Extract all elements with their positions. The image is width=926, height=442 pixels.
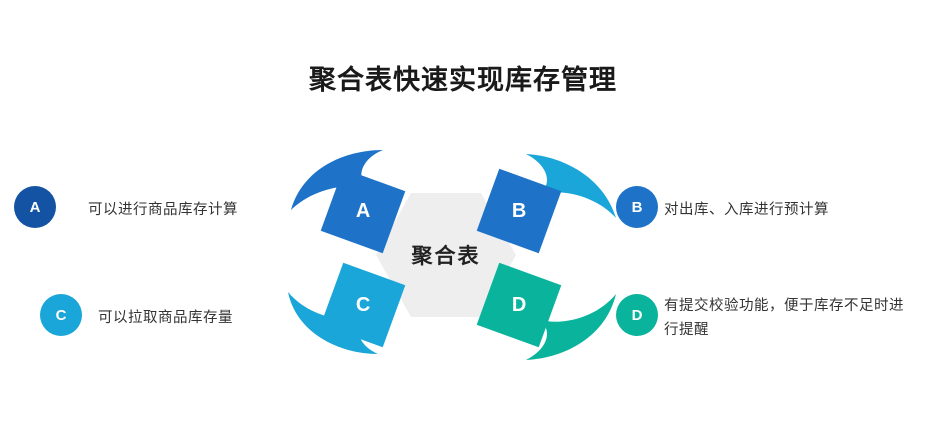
bullet-a-letter: A [30,199,41,216]
bullet-c-letter: C [56,307,67,324]
page-title: 聚合表快速实现库存管理 [0,58,926,97]
bullet-b[interactable]: B [616,186,658,228]
tile-d-letter: D [512,293,526,316]
center-label: 聚合表 [412,240,481,270]
caption-d: 有提交校验功能，便于库存不足时进行提醒 [664,294,916,342]
bullet-d-letter: D [632,307,643,324]
tile-a-letter: A [356,199,370,222]
caption-c: 可以拉取商品库存量 [98,306,328,330]
bullet-d[interactable]: D [616,294,658,336]
caption-a: 可以进行商品库存计算 [88,198,318,222]
bullet-c[interactable]: C [40,294,82,336]
bullet-b-letter: B [632,199,643,216]
diagram-canvas: 聚合表快速实现库存管理 聚合表 A B C D A 可以进行商品库存计算 B 对… [0,0,926,442]
tile-c-letter: C [356,293,370,316]
bullet-a[interactable]: A [14,186,56,228]
tile-b-letter: B [512,199,526,222]
caption-b: 对出库、入库进行预计算 [664,198,914,222]
